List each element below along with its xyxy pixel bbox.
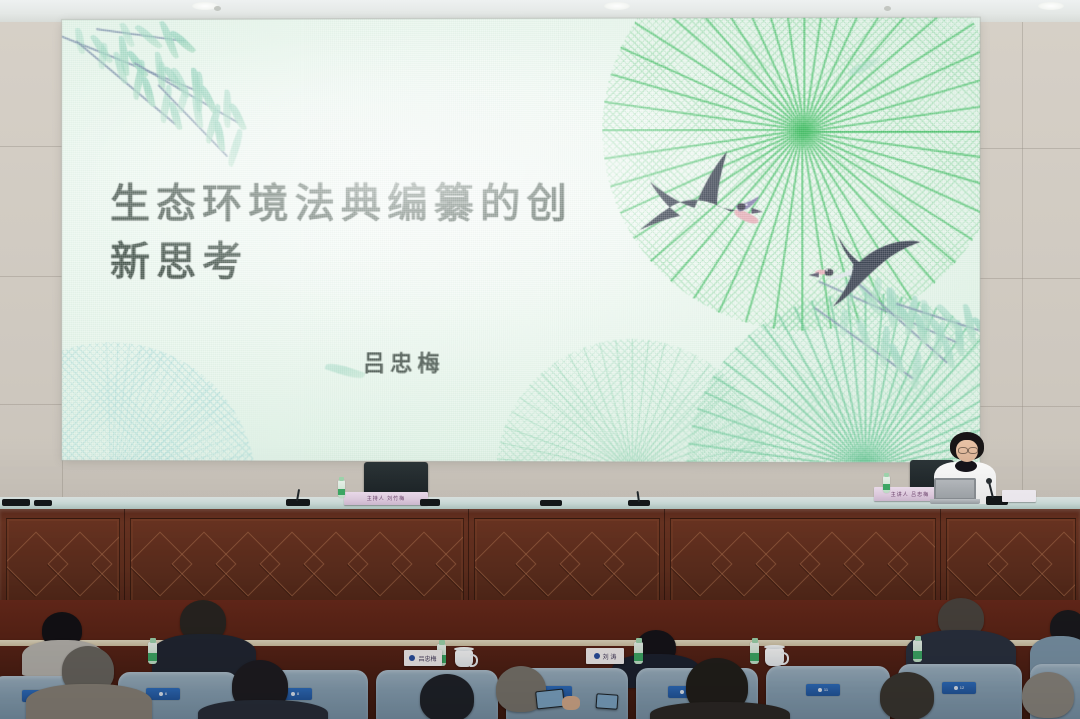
wall-seam [970,406,1080,407]
desk-carved-panel [946,518,1076,608]
desk-carved-panel [130,518,464,608]
wall-seam [0,146,62,147]
audience-name-card: 吕忠梅 [404,650,442,666]
laptop-icon [934,478,976,500]
audience-head [420,674,474,719]
wall-seam [0,404,62,405]
institution-logo-icon [594,653,600,659]
water-bottle-icon [148,642,157,664]
audience-shoulders [26,684,152,719]
slide-title-line2: 新思考 [110,233,674,291]
microphone-head [986,478,992,484]
laptop-base [930,499,980,504]
seat-tag-text: 6 [165,692,167,696]
microphone-icon [34,500,52,506]
paper-fan-icon [496,339,768,463]
slide-title-line1: 生态环境法典编纂的创 [110,175,674,233]
desk-carved-panel [6,518,120,608]
slide-author: 吕忠梅 [363,345,445,377]
audience-head [880,672,934,719]
swallow-icon [788,208,920,321]
audience-name-card-text: 吕忠梅 [418,654,436,663]
wall-seam [1022,22,1023,500]
water-bottle-icon [634,642,643,664]
water-bottle-icon [883,476,890,493]
microphone-icon [420,499,440,506]
audience-shoulders [198,700,328,719]
leaf-icon [324,360,365,381]
microphone-icon [2,499,30,506]
paper-sheet [1002,490,1036,502]
audience-shoulders [650,702,790,719]
slide-title: 生态环境法典编纂的创 新思考 [110,175,674,291]
wall-seam [970,278,1080,279]
speaker-glasses-icon [958,447,968,454]
host-nameplate: 主持人 刘竹梅 [344,492,428,505]
tea-cup-icon [765,648,784,666]
wall-seam [0,276,62,277]
water-bottle-icon [750,642,759,664]
audience-name-card: 刘 涛 [586,648,624,664]
seat-tag-text: 12 [960,686,964,690]
hand [562,696,580,710]
desk-carved-panel [670,518,936,608]
phone-icon[interactable] [535,689,565,710]
speaker-glasses-icon [968,447,978,454]
willow-branch-icon [62,23,349,164]
audience-name-card-text: 刘 涛 [603,652,617,661]
seat-number-tag: 11 [806,684,840,696]
wall-seam [970,148,1080,149]
lecture-hall-photo: 生态环境法典编纂的创 新思考 吕忠梅 主持人 刘竹梅 主讲人 吕忠梅 [0,0,1080,719]
monitor-icon [364,462,428,496]
microphone-icon [540,500,562,506]
water-bottle-icon [913,640,922,662]
water-bottle-icon [338,480,345,498]
seat-tag-text: 8 [297,692,299,696]
ceiling-light-icon [1038,2,1064,10]
ceiling-sensor-icon [884,6,891,11]
institution-logo-icon [409,655,415,661]
ceiling-sensor-icon [214,6,221,11]
ceiling-light-icon [604,2,630,10]
led-presentation-screen: 生态环境法典编纂的创 新思考 吕忠梅 [62,18,980,463]
phone-icon[interactable] [596,693,619,709]
seat-number-tag: 12 [942,682,976,694]
tea-cup-icon [455,650,473,667]
audience-head [1022,672,1074,718]
desk-carved-panel [474,518,660,608]
paper-fan-icon [62,342,256,463]
seat-tag-text: 11 [824,688,828,692]
